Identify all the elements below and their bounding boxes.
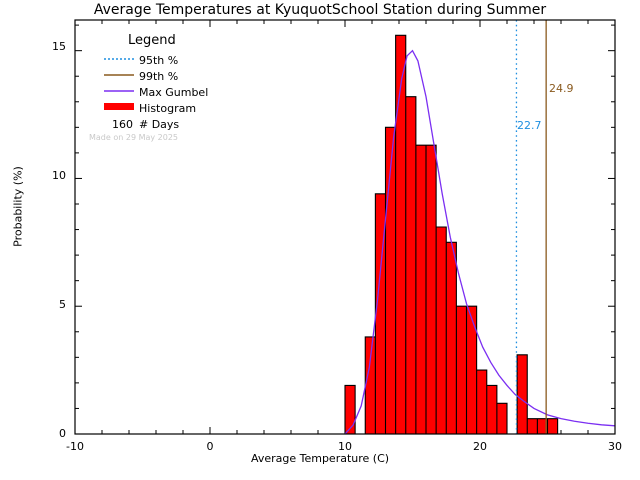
histogram-bars [345,35,558,434]
axes [75,20,615,434]
axes-frame [75,20,615,434]
legend-swatch-histogram [104,103,134,110]
histogram-path [345,35,558,434]
plot-border [75,20,615,434]
legend-swatches [104,59,134,110]
chart-root: Average Temperatures at KyuquotSchool St… [0,0,640,480]
plot-area [0,0,640,480]
